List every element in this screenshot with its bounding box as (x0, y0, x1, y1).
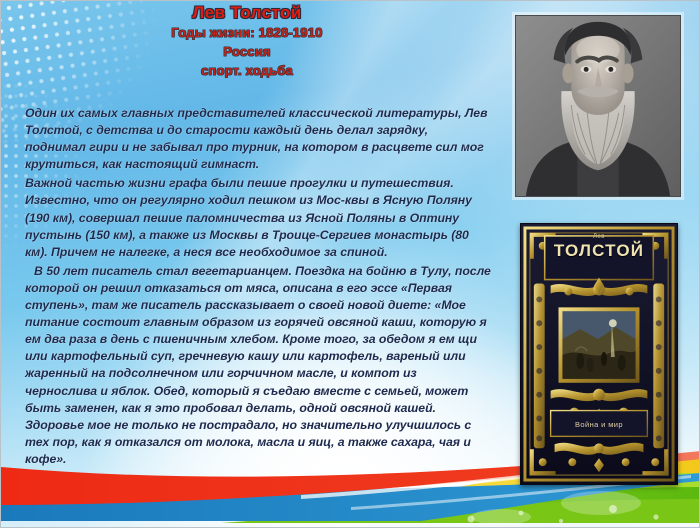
country-label: Россия (1, 42, 493, 61)
portrait-photo (515, 15, 681, 197)
article-body: Один их самых главных представителей кла… (25, 105, 491, 470)
sport-label: спорт. ходьба (1, 61, 493, 80)
presentation-slide: Лев Толстой Годы жизни: 1828-1910 Россия… (0, 0, 700, 528)
portrait-illustration (516, 16, 680, 196)
paragraph-3: В 50 лет писатель стал вегетарианцем. По… (25, 263, 491, 468)
page-title: Лев Толстой (1, 3, 493, 23)
book-cover: Лев ТОЛСТОЙ Война и мир (520, 223, 678, 485)
book-cover-illustration (521, 224, 677, 484)
slide-header: Лев Толстой Годы жизни: 1828-1910 Россия… (1, 3, 493, 80)
paragraph-1: Один их самых главных представителей кла… (25, 105, 491, 173)
paragraph-2: Важной частью жизни графа были пешие про… (25, 175, 491, 260)
book-author-small: Лев (521, 234, 677, 240)
life-years-label: Годы жизни: 1828-1910 (1, 23, 493, 42)
